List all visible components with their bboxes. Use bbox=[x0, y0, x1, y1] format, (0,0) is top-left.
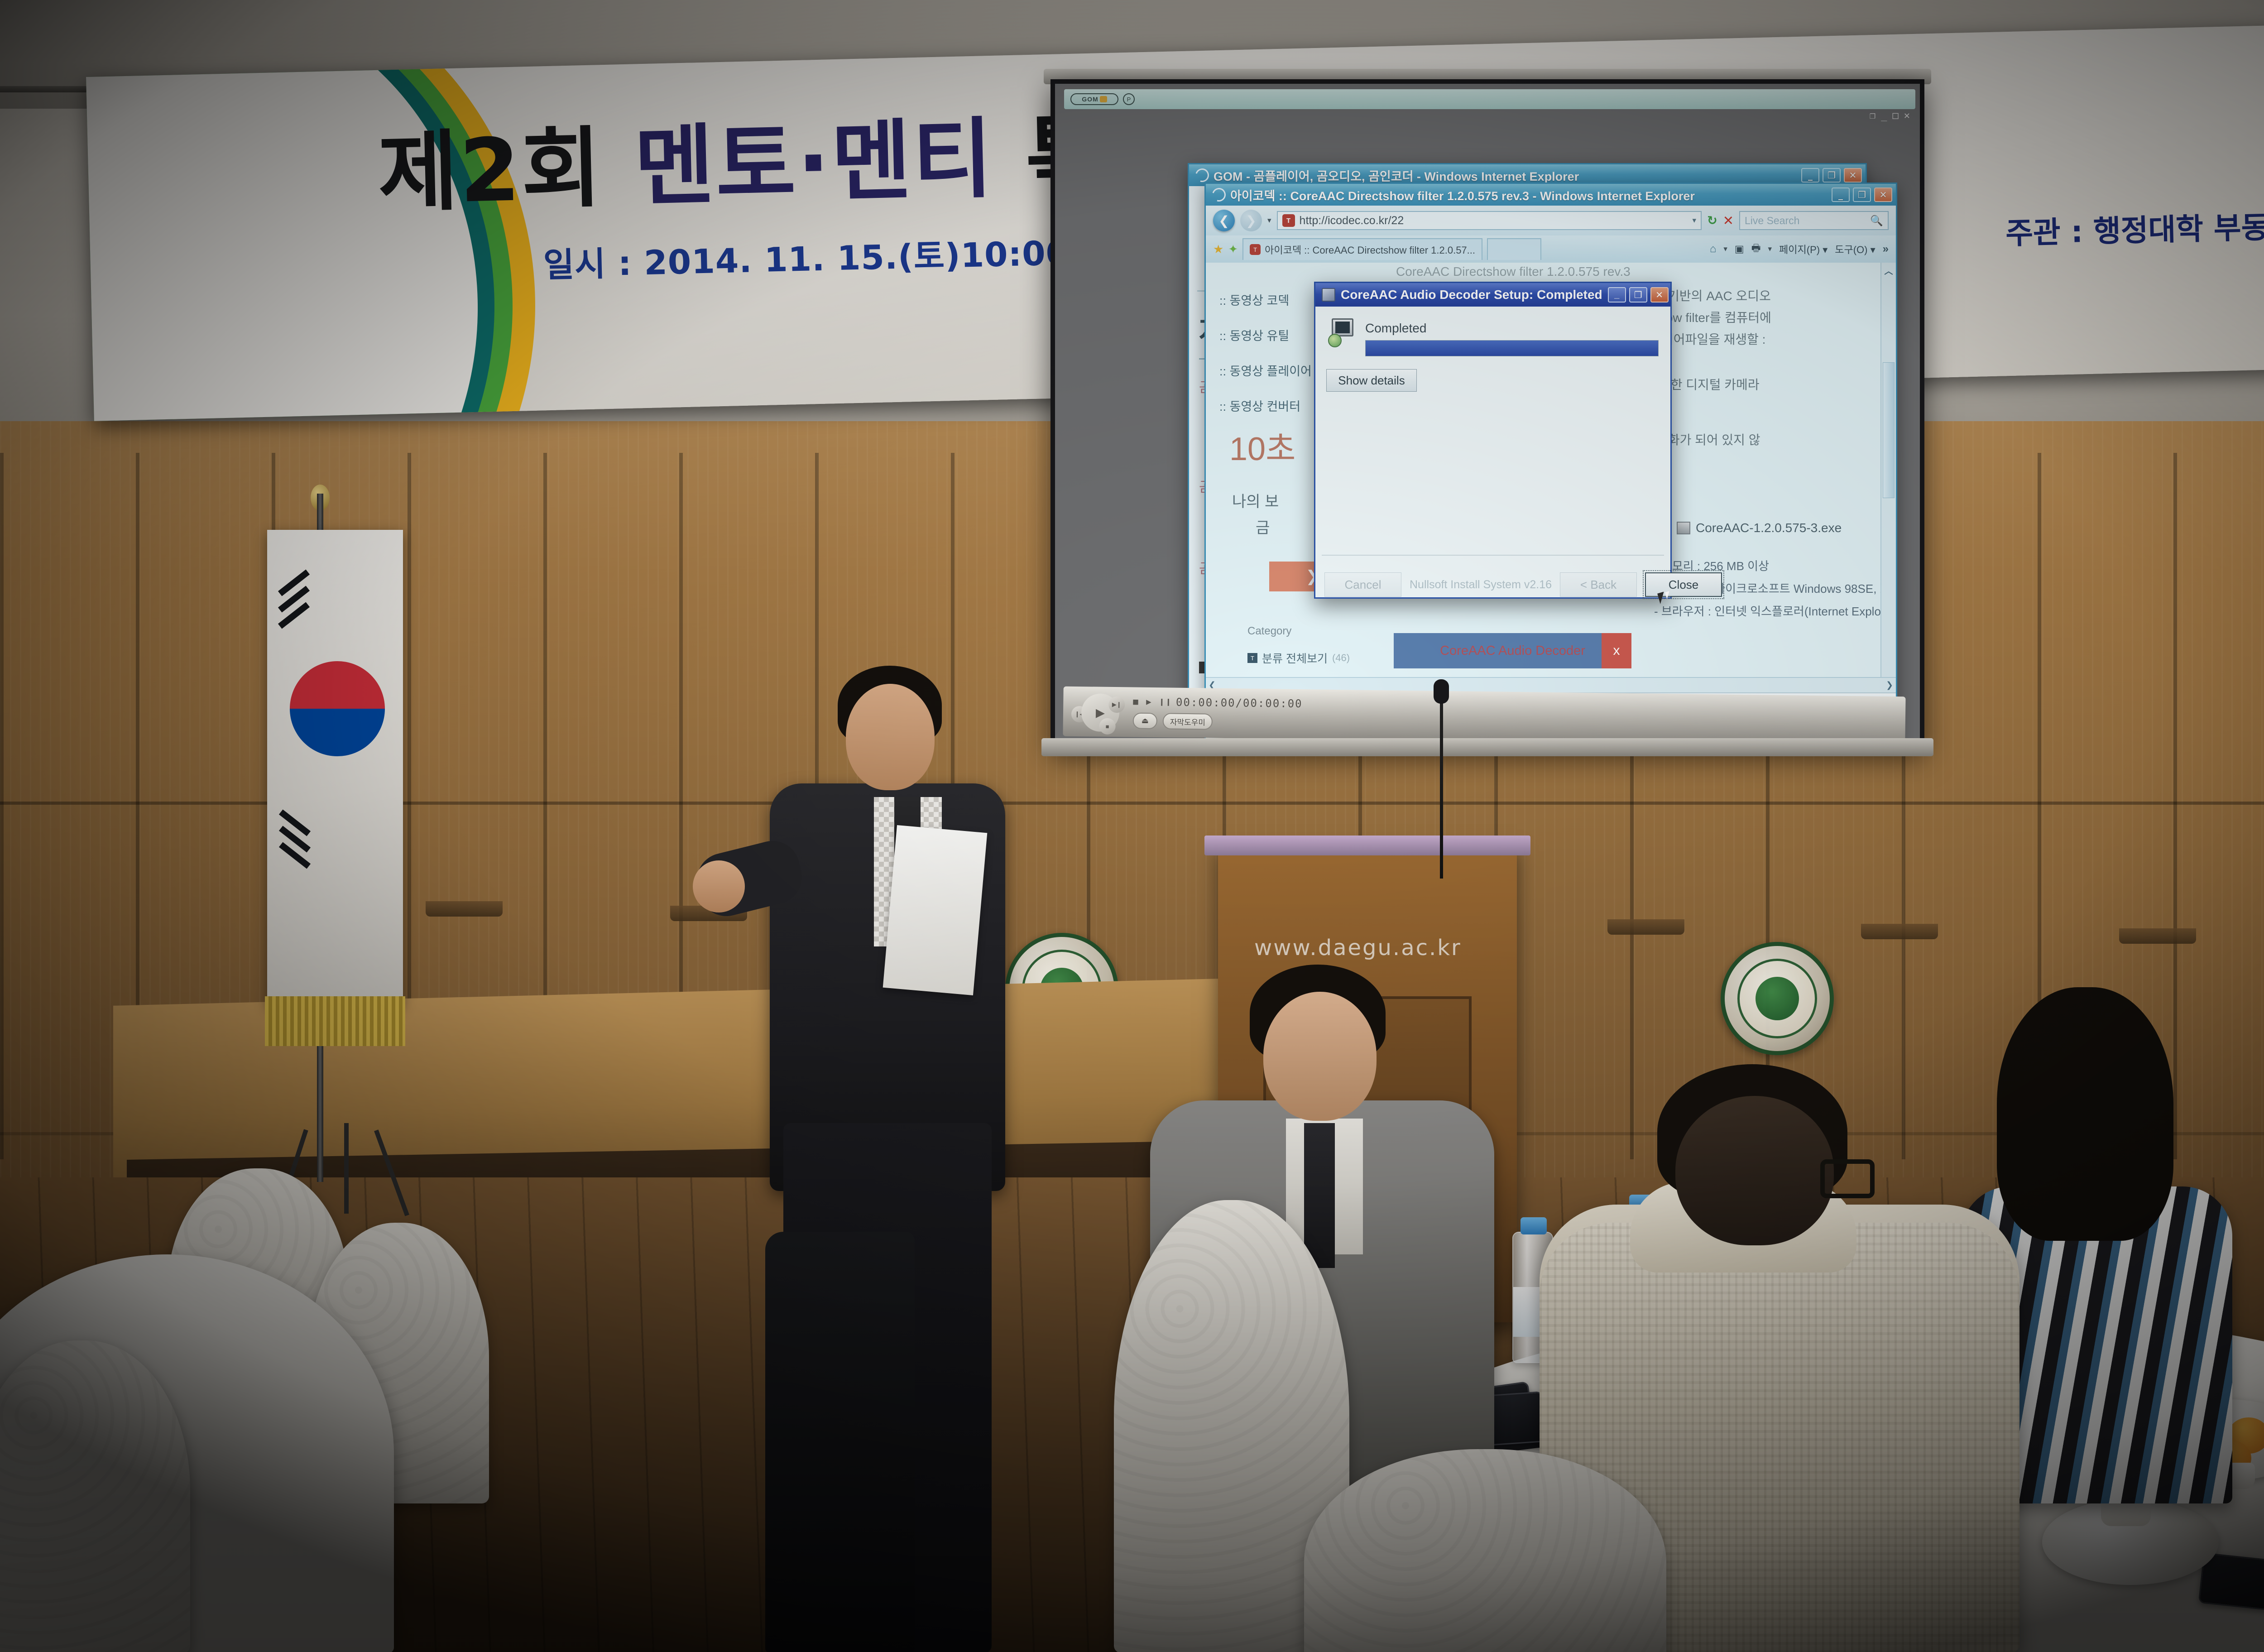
address-bar-value: http://icodec.co.kr/22 bbox=[1300, 214, 1404, 227]
gom-logo-text: GOM bbox=[1082, 96, 1098, 103]
gom-time-row: ■ ▶ ❙❙ 00:00:00/00:00:00 bbox=[1133, 696, 1303, 711]
tab-favicon-icon: T bbox=[1250, 244, 1261, 255]
gom-player-controlbar[interactable]: ❙◀ ▶ ▶❙ ■ ■ ▶ ❙❙ 00:00:00/00:00:00 ⏏ 자막도… bbox=[1063, 687, 1905, 745]
maximize-button[interactable]: ❐ bbox=[1629, 287, 1647, 303]
banner-title-part1: 제2회 bbox=[377, 117, 636, 224]
ie-icodec-title-text: 아이코덱 :: CoreAAC Directshow filter 1.2.0.… bbox=[1230, 186, 1695, 204]
speaker-head bbox=[846, 684, 935, 790]
setup-dialog-window-controls[interactable]: _ ❐ ✕ bbox=[1608, 287, 1669, 303]
setup-dialog-titlebar: CoreAAC Audio Decoder Setup: Completed _… bbox=[1315, 283, 1670, 307]
maximize-button[interactable]: ❐ bbox=[1853, 187, 1871, 202]
add-favorite-icon[interactable]: ✦ bbox=[1228, 242, 1238, 256]
scroll-up-icon[interactable]: ︿ bbox=[1881, 263, 1896, 278]
home-dropdown-icon[interactable]: ▾ bbox=[1723, 245, 1727, 254]
chair-pattern bbox=[0, 1340, 190, 1652]
divider bbox=[1322, 555, 1664, 556]
address-dropdown-icon[interactable]: ▾ bbox=[1693, 216, 1697, 225]
page-heading: CoreAAC Directshow filter 1.2.0.575 rev.… bbox=[1396, 264, 1631, 279]
gom-time-display: 00:00:00/00:00:00 bbox=[1176, 696, 1303, 710]
notification-close-icon[interactable]: x bbox=[1602, 633, 1631, 668]
show-details-label: Show details bbox=[1338, 374, 1405, 388]
new-tab-button[interactable] bbox=[1487, 238, 1541, 260]
minimize-button[interactable]: _ bbox=[1608, 287, 1626, 303]
search-input[interactable]: Live Search 🔍 bbox=[1739, 211, 1889, 230]
internet-explorer-icon bbox=[1210, 186, 1228, 204]
home-icon[interactable]: ⌂ bbox=[1710, 243, 1717, 255]
browser-tab[interactable]: T 아이코덱 :: CoreAAC Directshow filter 1.2.… bbox=[1242, 238, 1482, 260]
tools-menu-button[interactable]: 도구(O) ▾ bbox=[1835, 242, 1875, 256]
installer-icon bbox=[1322, 288, 1335, 302]
history-dropdown-icon[interactable]: ▾ bbox=[1267, 216, 1271, 225]
gom-close-icon[interactable]: ✕ bbox=[1904, 110, 1910, 121]
ie-navigation-bar: ❮ ❯ ▾ T http://icodec.co.kr/22 ▾ ↻ ✕ Liv… bbox=[1206, 206, 1896, 235]
sidebar-link-util[interactable]: :: 동영상 유틸 bbox=[1219, 326, 1289, 344]
emblem-ring bbox=[1737, 959, 1817, 1038]
podium-top-surface bbox=[1204, 836, 1530, 855]
projector-screen-bottom-bar bbox=[1041, 738, 1933, 756]
wall-emblem bbox=[1721, 942, 1834, 1055]
category-label: Category bbox=[1247, 625, 1291, 638]
close-button[interactable]: ✕ bbox=[1874, 187, 1892, 202]
wall-bracket bbox=[2119, 928, 2196, 944]
download-file-name: CoreAAC-1.2.0.575-3.exe bbox=[1696, 521, 1842, 535]
speaker-coat-drape bbox=[765, 1232, 915, 1652]
overflow-chevron-icon[interactable]: » bbox=[1883, 243, 1889, 255]
back-button-icon[interactable]: ❮ bbox=[1213, 210, 1235, 231]
gom-button-row: ⏏ 자막도우미 bbox=[1133, 713, 1303, 731]
wall-bracket bbox=[1861, 924, 1938, 939]
setup-status-text: Completed bbox=[1365, 321, 1426, 336]
stop-button-icon[interactable]: ■ bbox=[1099, 718, 1115, 735]
sidebar-link-codec[interactable]: :: 동영상 코덱 bbox=[1219, 291, 1289, 308]
category-all-link[interactable]: T 분류 전체보기 (46) bbox=[1247, 650, 1350, 666]
gom-player-titlebar: GOM P bbox=[1064, 89, 1915, 109]
projection-screen: GOM P ❐ _ □ ✕ GOM - 곰플레이어, 곰오디오, 곰인코더 - … bbox=[1050, 79, 1924, 749]
sidebar-link-converter[interactable]: :: 동영상 컨버터 bbox=[1219, 397, 1300, 414]
print-dropdown-icon[interactable]: ▾ bbox=[1768, 245, 1772, 254]
close-dialog-button[interactable]: Close bbox=[1645, 572, 1722, 597]
gom-logo-dot-icon bbox=[1100, 96, 1107, 102]
vertical-scrollbar[interactable]: ︿ ﹀ bbox=[1880, 263, 1896, 713]
gom-transport-glyphs: ■ ▶ ❙❙ bbox=[1133, 697, 1172, 707]
ie-tab-bar: ★ ✦ T 아이코덱 :: CoreAAC Directshow filter … bbox=[1206, 235, 1896, 263]
setup-install-icon bbox=[1328, 318, 1356, 346]
feeds-icon[interactable]: ▣ bbox=[1735, 243, 1744, 255]
coreaac-notification-label: CoreAAC Audio Decoder bbox=[1440, 644, 1585, 658]
cd-disc-icon bbox=[1328, 334, 1342, 347]
cancel-button: Cancel bbox=[1324, 572, 1401, 597]
speaker-held-paper bbox=[883, 825, 988, 995]
projected-desktop: GOM P ❐ _ □ ✕ GOM - 곰플레이어, 곰오디오, 곰인코더 - … bbox=[1055, 84, 1920, 745]
internet-explorer-icon bbox=[1193, 166, 1212, 185]
maximize-button[interactable]: ❐ bbox=[1823, 168, 1841, 182]
promo-number: 10초 bbox=[1229, 422, 1295, 470]
category-icon: T bbox=[1247, 653, 1257, 663]
minimize-button[interactable]: _ bbox=[1801, 168, 1819, 182]
page-menu-button[interactable]: 페이지(P) ▾ bbox=[1779, 242, 1828, 256]
minimize-button[interactable]: _ bbox=[1832, 187, 1850, 202]
show-details-button[interactable]: Show details bbox=[1326, 369, 1417, 392]
setup-dialog-body: Completed Show details Cancel Nullsoft I… bbox=[1315, 307, 1670, 597]
flag-fringe bbox=[265, 996, 405, 1046]
search-icon[interactable]: 🔍 bbox=[1870, 215, 1883, 227]
gom-badge-icon: P bbox=[1123, 93, 1135, 105]
print-icon[interactable]: 🖶 bbox=[1751, 240, 1761, 258]
podium-url-text: www.daegu.ac.kr bbox=[1254, 935, 1462, 960]
scroll-right-icon[interactable]: ❯ bbox=[1886, 680, 1893, 691]
attendee-head bbox=[1675, 1096, 1834, 1245]
ie-icodec-window-controls[interactable]: _ ❐ ✕ bbox=[1825, 187, 1892, 202]
next-track-icon[interactable]: ▶❙ bbox=[1108, 696, 1125, 713]
promo-text-2: 금 bbox=[1256, 515, 1270, 538]
seminar-room-photo: 제2회 멘토·멘티 특강 및 세미나 일시 : 2014. 11. 15.(토)… bbox=[0, 0, 2264, 1652]
ie-icodec-titlebar: 아이코덱 :: CoreAAC Directshow filter 1.2.0.… bbox=[1206, 184, 1896, 206]
subtitle-helper-button[interactable]: 자막도우미 bbox=[1163, 713, 1213, 730]
microphone-icon bbox=[1434, 679, 1449, 704]
back-button: < Back bbox=[1560, 572, 1637, 597]
gom-restore-icon[interactable]: ❐ bbox=[1870, 110, 1875, 121]
vertical-scroll-thumb[interactable] bbox=[1883, 362, 1895, 498]
address-bar[interactable]: T http://icodec.co.kr/22 ▾ bbox=[1277, 211, 1702, 230]
banner-title-part2: 멘토·멘티 bbox=[633, 108, 1026, 218]
wall-bracket bbox=[426, 901, 503, 917]
favorites-star-icon[interactable]: ★ bbox=[1213, 242, 1223, 256]
promo-text-1: 나의 보 bbox=[1232, 489, 1279, 511]
coreaac-notification-bar[interactable]: CoreAAC Audio Decoder x bbox=[1394, 633, 1631, 668]
gom-maximize-icon[interactable]: □ bbox=[1893, 110, 1899, 121]
setup-progress-bar bbox=[1365, 340, 1659, 356]
attendee-tie bbox=[1304, 1123, 1335, 1268]
stop-icon[interactable]: ✕ bbox=[1723, 213, 1734, 229]
gom-time-area: ■ ▶ ❙❙ 00:00:00/00:00:00 ⏏ 자막도우미 bbox=[1133, 696, 1303, 731]
banner-host: 주관 : 행정대학 부동산학과 bbox=[2005, 201, 2264, 253]
installer-credit: Nullsoft Install System v2.16 bbox=[1410, 578, 1552, 591]
eject-button[interactable]: ⏏ bbox=[1133, 713, 1157, 730]
setup-dialog-title: CoreAAC Audio Decoder Setup: Completed bbox=[1341, 288, 1602, 302]
sidebar-link-player[interactable]: :: 동영상 플레이어 bbox=[1219, 361, 1312, 379]
ie-gom-title-text: GOM - 곰플레이어, 곰오디오, 곰인코더 - Windows Intern… bbox=[1214, 167, 1579, 184]
speaker-left-hand bbox=[693, 860, 745, 912]
close-button[interactable]: ✕ bbox=[1844, 168, 1862, 182]
gom-transport-pad[interactable]: ❙◀ ▶ ▶❙ ■ bbox=[1071, 690, 1125, 734]
ie-gom-window-controls[interactable]: _ ❐ ✕ bbox=[1795, 168, 1862, 182]
setup-dialog-footer: Cancel Nullsoft Install System v2.16 < B… bbox=[1315, 565, 1670, 605]
attendee-head bbox=[1263, 992, 1377, 1121]
gom-logo-icon: GOM bbox=[1070, 93, 1118, 105]
browser-tab-label: 아이코덱 :: CoreAAC Directshow filter 1.2.0.… bbox=[1265, 242, 1475, 257]
forward-button-icon[interactable]: ❯ bbox=[1240, 210, 1262, 231]
wall-bracket bbox=[1607, 919, 1684, 935]
category-count: (46) bbox=[1332, 652, 1350, 664]
bottle-cap bbox=[1521, 1217, 1547, 1234]
gom-minimize-icon[interactable]: _ bbox=[1881, 110, 1887, 121]
setup-dialog[interactable]: CoreAAC Audio Decoder Setup: Completed _… bbox=[1314, 282, 1672, 599]
chair bbox=[0, 1340, 190, 1652]
eyeglasses-icon bbox=[1820, 1159, 1875, 1198]
refresh-icon[interactable]: ↻ bbox=[1707, 214, 1717, 228]
flag-stand-leg bbox=[344, 1123, 349, 1214]
microphone-stand bbox=[1440, 688, 1443, 879]
search-placeholder: Live Search bbox=[1745, 215, 1799, 227]
taeguk-symbol bbox=[290, 661, 385, 756]
spec-browser: - 브라우저 : 인터넷 익스플로러(Internet Explorer) 4.… bbox=[1654, 602, 1896, 619]
ie-command-bar: ⌂ ▾ ▣ 🖶 ▾ 페이지(P) ▾ 도구(O) ▾ » bbox=[1710, 240, 1889, 258]
executable-file-icon bbox=[1677, 522, 1690, 534]
category-all-label: 분류 전체보기 bbox=[1262, 650, 1328, 666]
gom-window-controls[interactable]: ❐ _ □ ✕ bbox=[1870, 110, 1910, 121]
close-button[interactable]: ✕ bbox=[1650, 287, 1669, 303]
site-favicon-icon: T bbox=[1282, 214, 1295, 227]
attendee-hair bbox=[1997, 987, 2173, 1241]
download-file-row[interactable]: CoreAAC-1.2.0.575-3.exe bbox=[1677, 521, 1842, 535]
